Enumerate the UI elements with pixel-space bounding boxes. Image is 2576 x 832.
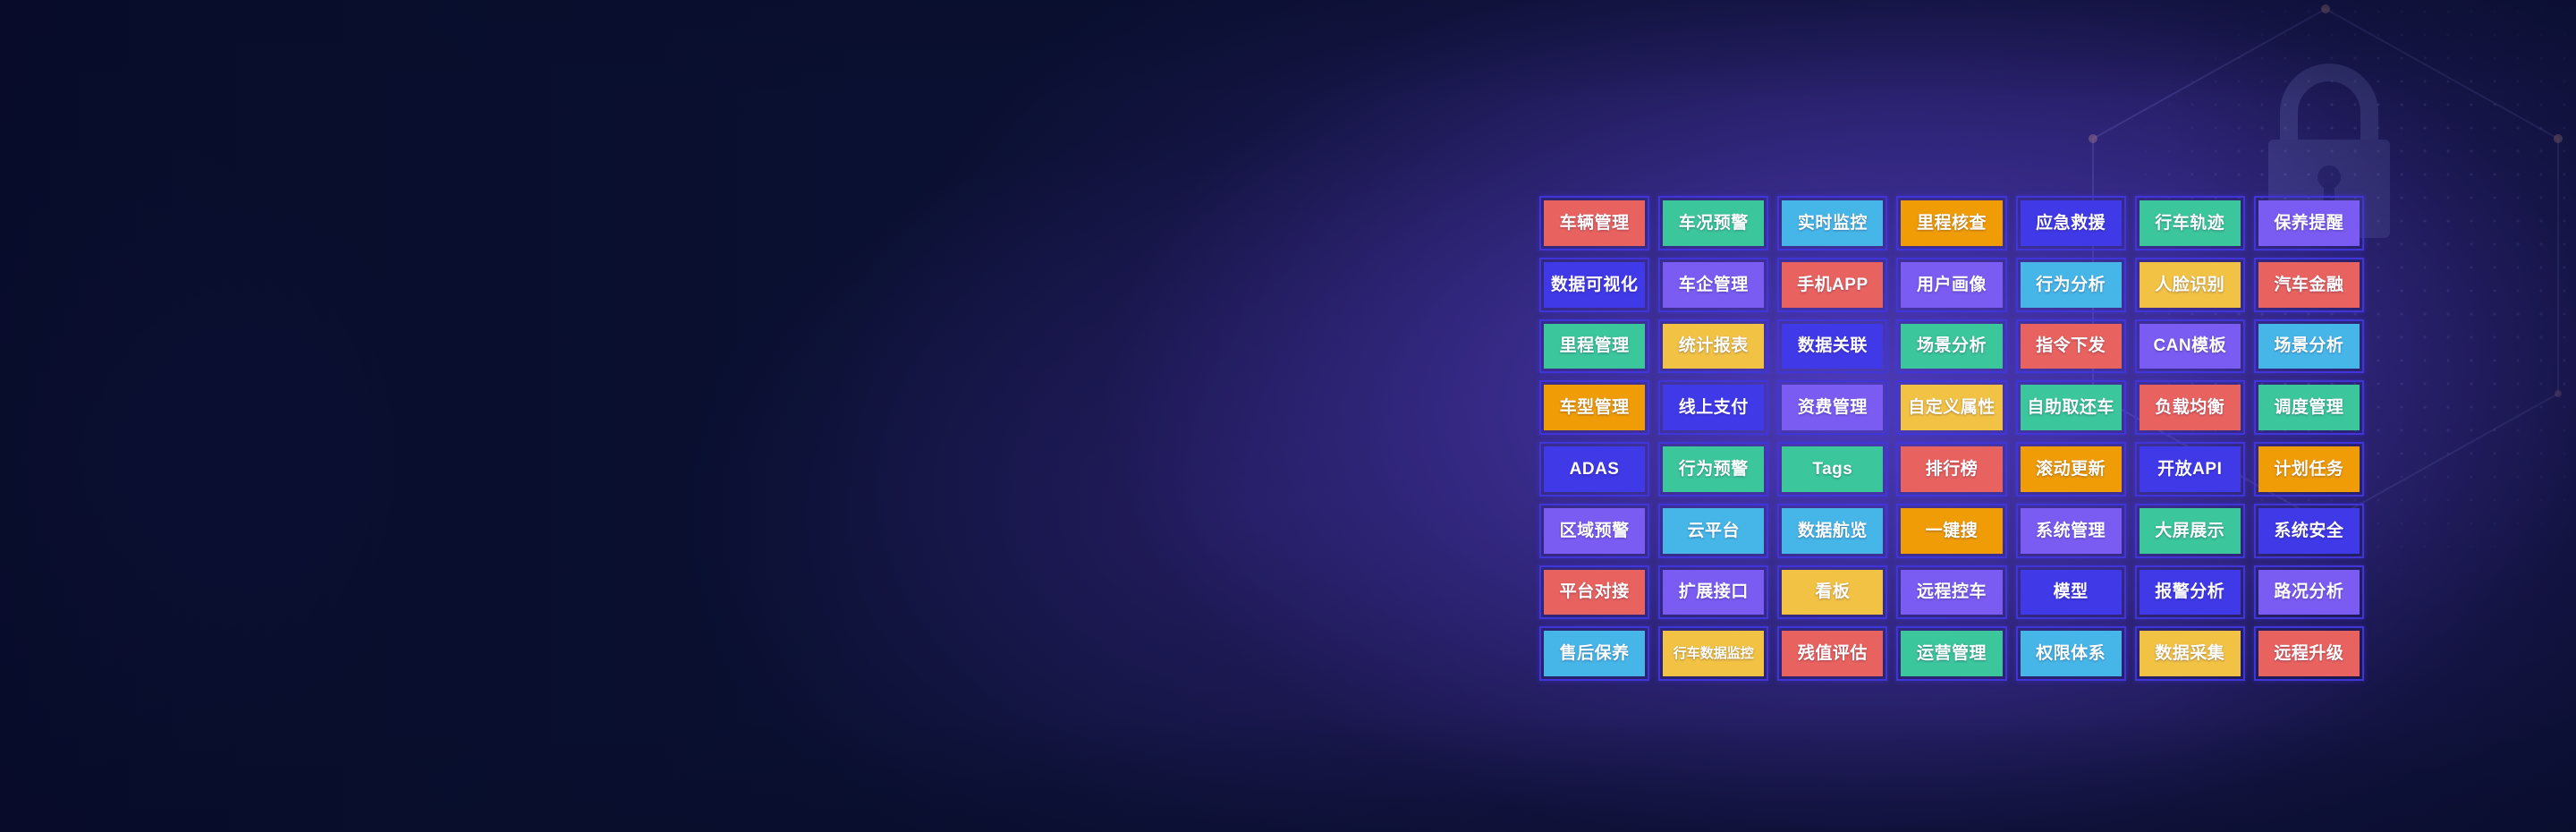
tag-cell-frame: 排行榜	[1896, 442, 2006, 497]
tag-cell[interactable]: 路况分析	[2250, 562, 2368, 624]
tag-cell[interactable]: 报警分析	[2131, 562, 2250, 624]
tag-chip[interactable]: 场景分析	[1901, 324, 2002, 369]
tag-cell[interactable]: 场景分析	[1892, 316, 2011, 378]
tag-cell[interactable]: 汽车金融	[2250, 254, 2368, 316]
tag-chip[interactable]: 统计报表	[1663, 324, 1764, 369]
tag-cell-frame: 平台对接	[1539, 565, 1649, 620]
tag-chip[interactable]: 手机APP	[1782, 262, 1883, 308]
tag-chip[interactable]: 数据关联	[1782, 324, 1883, 369]
tag-cell-frame: 负载均衡	[2135, 380, 2245, 435]
tag-cell-frame: Tags	[1777, 442, 1887, 497]
tag-chip[interactable]: 行为预警	[1663, 446, 1764, 492]
tag-cell[interactable]: 里程管理	[1535, 316, 1654, 378]
tag-cell[interactable]: ADAS	[1535, 438, 1654, 500]
tag-cell[interactable]: 自定义属性	[1892, 377, 2011, 438]
tag-cell-frame: 用户画像	[1896, 258, 2006, 312]
tag-cell[interactable]: 远程控车	[1892, 562, 2011, 624]
tag-cell[interactable]: 统计报表	[1654, 316, 1773, 378]
particle-sparkles	[0, 0, 268, 134]
tag-cell[interactable]: 指令下发	[2012, 316, 2131, 378]
tag-chip[interactable]: 报警分析	[2140, 570, 2241, 616]
tag-cell[interactable]: 计划任务	[2250, 438, 2368, 500]
tag-cell[interactable]: 系统安全	[2250, 500, 2368, 562]
tag-cell[interactable]: 行车数据监控	[1654, 623, 1773, 684]
tag-cell[interactable]: 行车轨迹	[2131, 192, 2250, 254]
tag-cell-frame: 统计报表	[1658, 319, 1768, 374]
tag-chip[interactable]: Tags	[1782, 446, 1883, 492]
tag-chip[interactable]: 远程升级	[2258, 631, 2360, 676]
tag-cell-frame: 车型管理	[1539, 380, 1649, 435]
tag-cell-frame: 车况预警	[1658, 196, 1768, 250]
tag-cell-frame: 调度管理	[2254, 380, 2364, 435]
tag-cell-frame: 售后保养	[1539, 626, 1649, 681]
tag-cell[interactable]: 资费管理	[1773, 377, 1892, 438]
tag-chip[interactable]: 行车轨迹	[2140, 200, 2241, 246]
tag-cell[interactable]: 线上支付	[1654, 377, 1773, 438]
tag-chip[interactable]: 自定义属性	[1901, 385, 2002, 430]
tag-cell-frame: 远程升级	[2254, 626, 2364, 681]
tag-chip[interactable]: 指令下发	[2021, 324, 2122, 369]
tag-chip[interactable]: 负载均衡	[2140, 385, 2241, 430]
tag-cell[interactable]: 权限体系	[2012, 623, 2131, 684]
tag-cell-frame: 系统安全	[2254, 504, 2364, 558]
tag-cell-frame: 开放API	[2135, 442, 2245, 497]
tag-chip[interactable]: 售后保养	[1544, 631, 1645, 676]
tag-cell-frame: 里程核查	[1896, 196, 2006, 250]
tag-cell-frame: 计划任务	[2254, 442, 2364, 497]
tag-cell-frame: 权限体系	[2016, 626, 2126, 681]
tag-cell[interactable]: 里程核查	[1892, 192, 2011, 254]
tag-cell[interactable]: 开放API	[2131, 438, 2250, 500]
tag-chip[interactable]: 路况分析	[2258, 570, 2360, 616]
tag-cell-frame: 云平台	[1658, 504, 1768, 558]
tag-chip[interactable]: 权限体系	[2021, 631, 2122, 676]
tag-cell-frame: 资费管理	[1777, 380, 1887, 435]
tag-cell[interactable]: 残值评估	[1773, 623, 1892, 684]
tag-cell-frame: 远程控车	[1896, 565, 2006, 620]
tag-cell-frame: ADAS	[1539, 442, 1649, 497]
tag-cell-frame: 场景分析	[2254, 319, 2364, 374]
tag-cell-frame: 自助取还车	[2016, 380, 2126, 435]
tag-cell[interactable]: 行为分析	[2012, 254, 2131, 316]
tag-cell[interactable]: 行为预警	[1654, 438, 1773, 500]
tag-chip[interactable]: 里程管理	[1544, 324, 1645, 369]
tag-chip[interactable]: 云平台	[1663, 508, 1764, 554]
tag-chip[interactable]: 自助取还车	[2021, 385, 2122, 430]
tag-cell[interactable]: 车况预警	[1654, 192, 1773, 254]
tag-chip[interactable]: 开放API	[2140, 446, 2241, 492]
tag-cell[interactable]: 区域预警	[1535, 500, 1654, 562]
tag-cell-frame: 数据可视化	[1539, 258, 1649, 312]
tag-chip[interactable]: 场景分析	[2258, 324, 2360, 369]
tag-cell-frame: 报警分析	[2135, 565, 2245, 620]
tag-cell[interactable]: 排行榜	[1892, 438, 2011, 500]
tag-cell[interactable]: 系统管理	[2012, 500, 2131, 562]
tag-cell-frame: 指令下发	[2016, 319, 2126, 374]
tag-cell[interactable]: 数据采集	[2131, 623, 2250, 684]
tag-cell-frame: 实时监控	[1777, 196, 1887, 250]
tag-cell[interactable]: 人脸识别	[2131, 254, 2250, 316]
tag-cell[interactable]: Tags	[1773, 438, 1892, 500]
tag-cell-frame: 区域预警	[1539, 504, 1649, 558]
tag-chip[interactable]: CAN模板	[2140, 324, 2241, 369]
tag-chip[interactable]: 数据采集	[2140, 631, 2241, 676]
tag-chip[interactable]: 车况预警	[1663, 200, 1764, 246]
tag-cell[interactable]: 平台对接	[1535, 562, 1654, 624]
tag-cell-frame: 应急救援	[2016, 196, 2126, 250]
tag-chip[interactable]: 保养提醒	[2258, 200, 2360, 246]
tag-cell-frame: 残值评估	[1777, 626, 1887, 681]
tag-cell[interactable]: 数据可视化	[1535, 254, 1654, 316]
tag-chip[interactable]: 系统安全	[2258, 508, 2360, 554]
tag-chip[interactable]: 大屏展示	[2140, 508, 2241, 554]
tag-chip[interactable]: 数据可视化	[1544, 262, 1645, 308]
tag-chip[interactable]: 里程核查	[1901, 200, 2002, 246]
tag-cell[interactable]: 数据关联	[1773, 316, 1892, 378]
tag-cell-frame: 里程管理	[1539, 319, 1649, 374]
tag-cell[interactable]: 售后保养	[1535, 623, 1654, 684]
tag-cell[interactable]: 保养提醒	[2250, 192, 2368, 254]
tag-chip[interactable]: 残值评估	[1782, 631, 1883, 676]
tag-cell-frame: 汽车金融	[2254, 258, 2364, 312]
tag-cell-frame: 运营管理	[1896, 626, 2006, 681]
tag-cell[interactable]: 调度管理	[2250, 377, 2368, 438]
tag-cell-frame: 行车数据监控	[1658, 626, 1768, 681]
tag-cell[interactable]: 滚动更新	[2012, 438, 2131, 500]
tag-cell[interactable]: 自助取还车	[2012, 377, 2131, 438]
tag-chip[interactable]: 车辆管理	[1544, 200, 1645, 246]
tag-chip[interactable]: 系统管理	[2021, 508, 2122, 554]
tag-chip[interactable]: ADAS	[1544, 446, 1645, 492]
tag-cell[interactable]: 大屏展示	[2131, 500, 2250, 562]
tag-chip[interactable]: 计划任务	[2258, 446, 2360, 492]
tag-chip[interactable]: 车型管理	[1544, 385, 1645, 430]
tag-cell-frame: 手机APP	[1777, 258, 1887, 312]
tag-cell-frame: 行为分析	[2016, 258, 2126, 312]
tag-cell-frame: 扩展接口	[1658, 565, 1768, 620]
tag-chip[interactable]: 用户画像	[1901, 262, 2002, 308]
tag-cell-frame: CAN模板	[2135, 319, 2245, 374]
tag-cell[interactable]: 模型	[2012, 562, 2131, 624]
tag-chip[interactable]: 实时监控	[1782, 200, 1883, 246]
tag-cell-frame: 行为预警	[1658, 442, 1768, 497]
tag-cell[interactable]: 用户画像	[1892, 254, 2011, 316]
tag-chip[interactable]: 平台对接	[1544, 570, 1645, 616]
tag-cell-frame: 保养提醒	[2254, 196, 2364, 250]
tag-cell-frame: 车辆管理	[1539, 196, 1649, 250]
tag-chip[interactable]: 一键搜	[1901, 508, 2002, 554]
tag-cell-frame: 模型	[2016, 565, 2126, 620]
tag-cell-frame: 人脸识别	[2135, 258, 2245, 312]
tag-cell-frame: 车企管理	[1658, 258, 1768, 312]
tag-cell[interactable]: CAN模板	[2131, 316, 2250, 378]
tag-chip[interactable]: 运营管理	[1901, 631, 2002, 676]
tag-cell[interactable]: 车企管理	[1654, 254, 1773, 316]
tag-chip[interactable]: 行为分析	[2021, 262, 2122, 308]
tag-chip[interactable]: 远程控车	[1901, 570, 2002, 616]
tag-cell-frame: 系统管理	[2016, 504, 2126, 558]
tag-cell[interactable]: 应急救援	[2012, 192, 2131, 254]
tag-cell[interactable]: 一键搜	[1892, 500, 2011, 562]
tag-cell[interactable]: 扩展接口	[1654, 562, 1773, 624]
tag-chip[interactable]: 车企管理	[1663, 262, 1764, 308]
tag-cell-frame: 场景分析	[1896, 319, 2006, 374]
tag-cell-frame: 行车轨迹	[2135, 196, 2245, 250]
tag-cell[interactable]: 运营管理	[1892, 623, 2011, 684]
tag-cell-frame: 一键搜	[1896, 504, 2006, 558]
tag-cell[interactable]: 数据航览	[1773, 500, 1892, 562]
tag-cell[interactable]: 场景分析	[2250, 316, 2368, 378]
tag-chip[interactable]: 区域预警	[1544, 508, 1645, 554]
tag-chip[interactable]: 滚动更新	[2021, 446, 2122, 492]
tag-cell[interactable]: 手机APP	[1773, 254, 1892, 316]
tag-chip[interactable]: 模型	[2021, 570, 2122, 616]
tag-cell[interactable]: 云平台	[1654, 500, 1773, 562]
tag-chip[interactable]: 扩展接口	[1663, 570, 1764, 616]
tag-chip[interactable]: 调度管理	[2258, 385, 2360, 430]
tag-cell-frame: 数据航览	[1777, 504, 1887, 558]
tag-grid: 车辆管理车况预警实时监控里程核查应急救援行车轨迹保养提醒数据可视化车企管理手机A…	[1535, 192, 2368, 684]
tag-chip[interactable]: 行车数据监控	[1663, 631, 1764, 676]
tag-cell[interactable]: 实时监控	[1773, 192, 1892, 254]
tag-cell[interactable]: 远程升级	[2250, 623, 2368, 684]
tag-chip[interactable]: 人脸识别	[2140, 262, 2241, 308]
tag-cell[interactable]: 车辆管理	[1535, 192, 1654, 254]
tag-cell-frame: 路况分析	[2254, 565, 2364, 620]
tag-cell-frame: 线上支付	[1658, 380, 1768, 435]
tag-cell[interactable]: 车型管理	[1535, 377, 1654, 438]
tag-chip[interactable]: 看板	[1782, 570, 1883, 616]
tag-cell-frame: 自定义属性	[1896, 380, 2006, 435]
tag-cell[interactable]: 负载均衡	[2131, 377, 2250, 438]
tag-cell[interactable]: 看板	[1773, 562, 1892, 624]
tag-chip[interactable]: 资费管理	[1782, 385, 1883, 430]
tag-cell-frame: 数据采集	[2135, 626, 2245, 681]
tag-chip[interactable]: 汽车金融	[2258, 262, 2360, 308]
tag-cell-frame: 看板	[1777, 565, 1887, 620]
tag-chip[interactable]: 应急救援	[2021, 200, 2122, 246]
tag-chip[interactable]: 排行榜	[1901, 446, 2002, 492]
tag-cell-frame: 滚动更新	[2016, 442, 2126, 497]
tag-cell-frame: 数据关联	[1777, 319, 1887, 374]
tag-cell-frame: 大屏展示	[2135, 504, 2245, 558]
tag-chip[interactable]: 数据航览	[1782, 508, 1883, 554]
tag-chip[interactable]: 线上支付	[1663, 385, 1764, 430]
